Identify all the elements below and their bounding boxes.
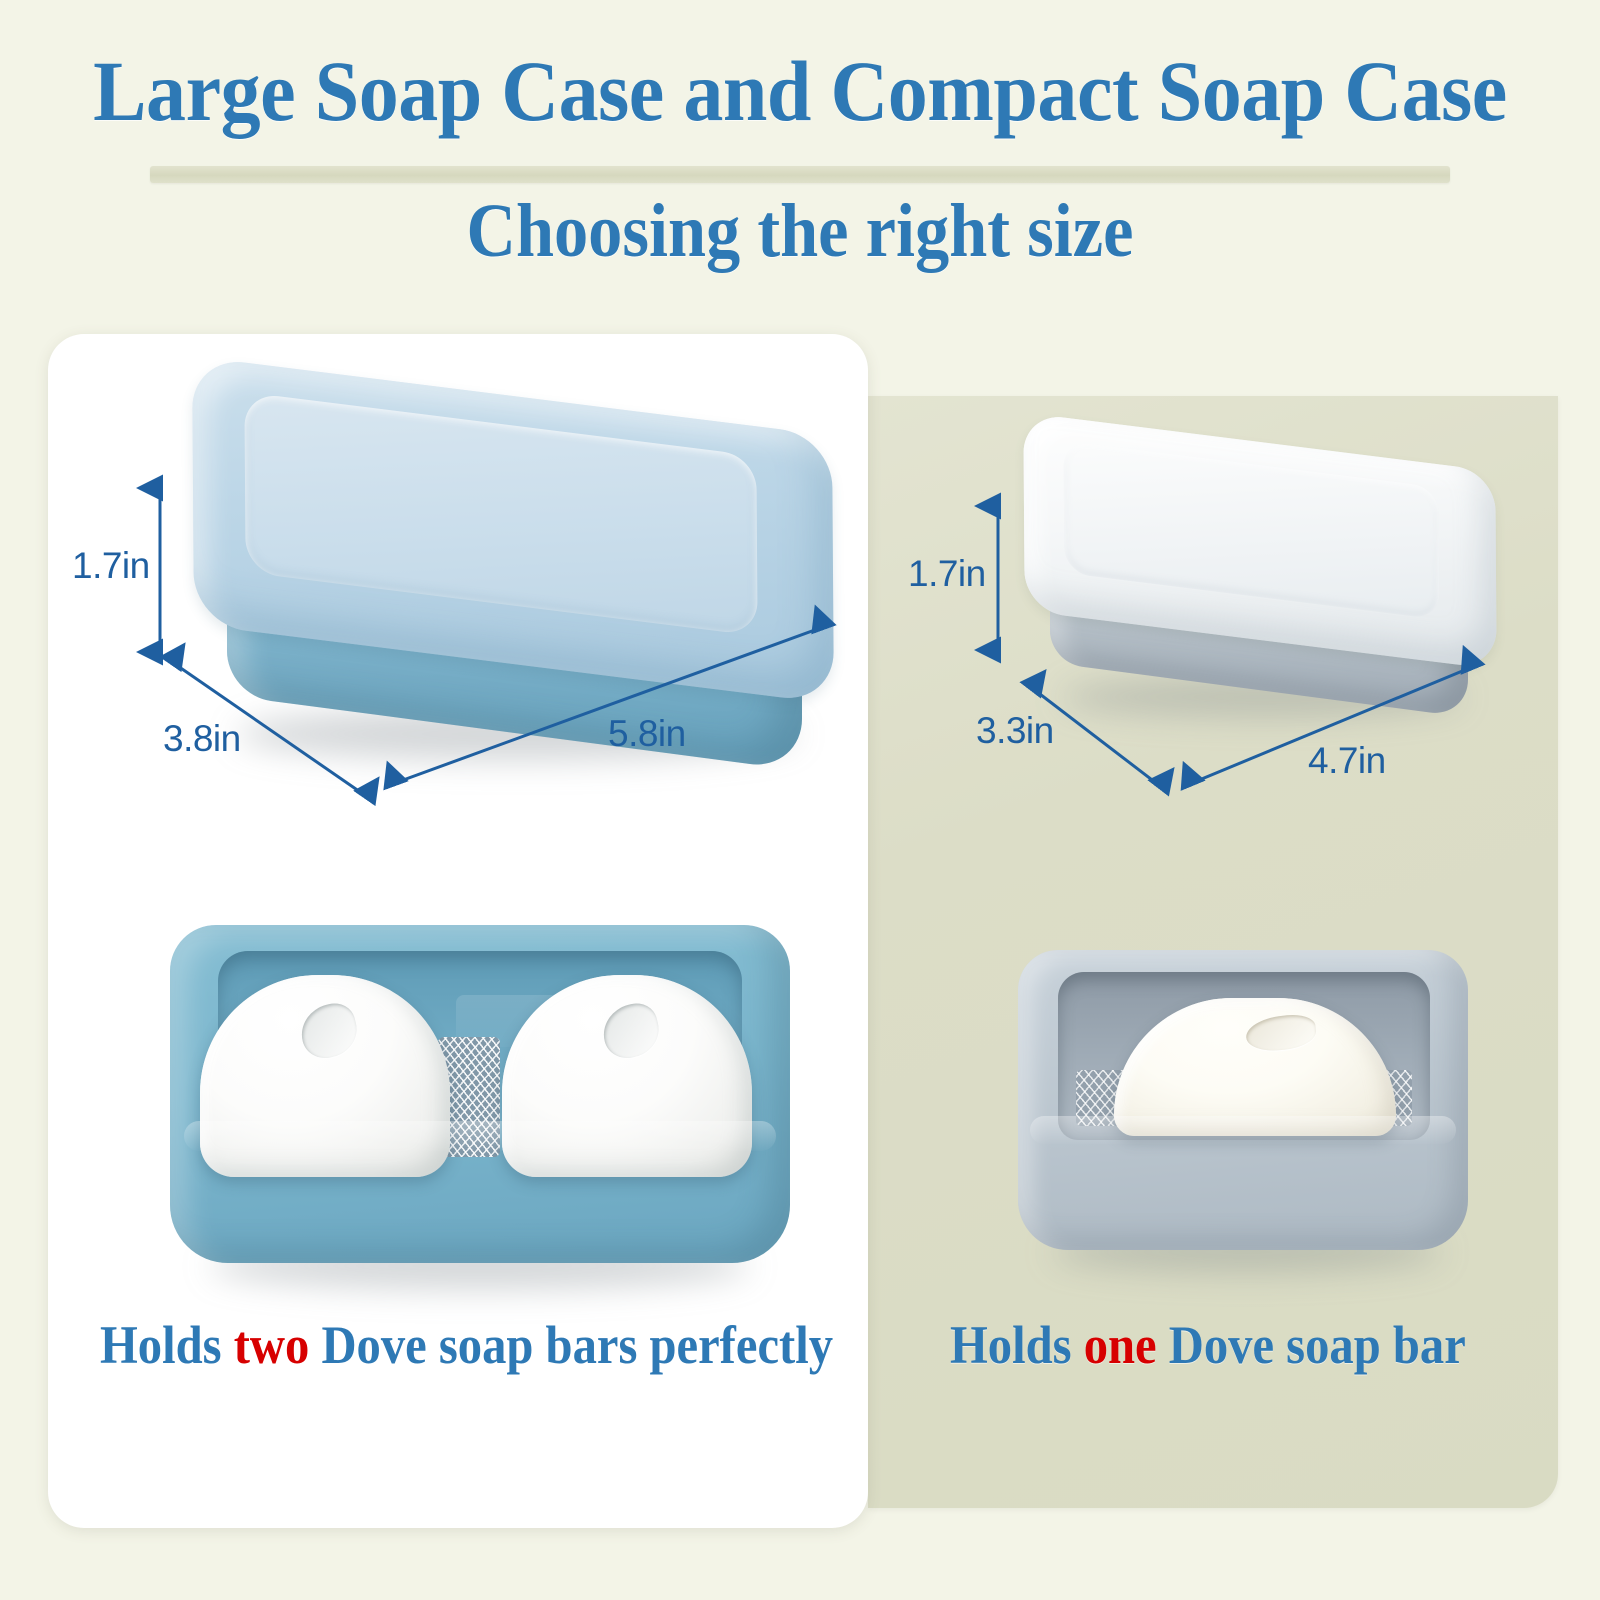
compact-open-rim <box>1030 1116 1456 1144</box>
compact-case-capacity-caption: Holds one Dove soap bar <box>950 1318 1466 1372</box>
page-title: Large Soap Case and Compact Soap Case <box>56 48 1544 134</box>
caption-suffix: Dove soap bars perfectly <box>309 1315 833 1375</box>
large-width-label: 5.8in <box>608 713 686 755</box>
compact-depth-label: 3.3in <box>976 710 1054 752</box>
dove-emboss-icon <box>296 999 363 1063</box>
large-height-label: 1.7in <box>72 545 150 587</box>
caption-suffix: Dove soap bar <box>1157 1315 1466 1375</box>
dove-emboss-icon <box>598 999 665 1063</box>
caption-prefix: Holds <box>100 1315 234 1375</box>
compact-width-label: 4.7in <box>1308 740 1386 782</box>
compact-height-label: 1.7in <box>908 553 986 595</box>
large-case-capacity-caption: Holds two Dove soap bars perfectly <box>100 1318 833 1372</box>
page-subtitle: Choosing the right size <box>80 193 1520 269</box>
infographic-canvas: Large Soap Case and Compact Soap Case Ch… <box>0 0 1600 1600</box>
title-divider <box>150 166 1450 183</box>
large-soap-case-closed-image <box>175 378 855 788</box>
large-open-rim <box>184 1121 776 1151</box>
caption-prefix: Holds <box>950 1315 1084 1375</box>
compact-soap-case-open-image <box>1018 950 1468 1260</box>
dove-emboss-icon <box>1244 1012 1317 1053</box>
large-depth-label: 3.8in <box>163 718 241 760</box>
caption-highlight: two <box>234 1315 310 1375</box>
caption-highlight: one <box>1084 1315 1157 1375</box>
large-soap-case-open-image <box>170 925 790 1275</box>
compact-soap-case-closed-image <box>1010 430 1510 730</box>
